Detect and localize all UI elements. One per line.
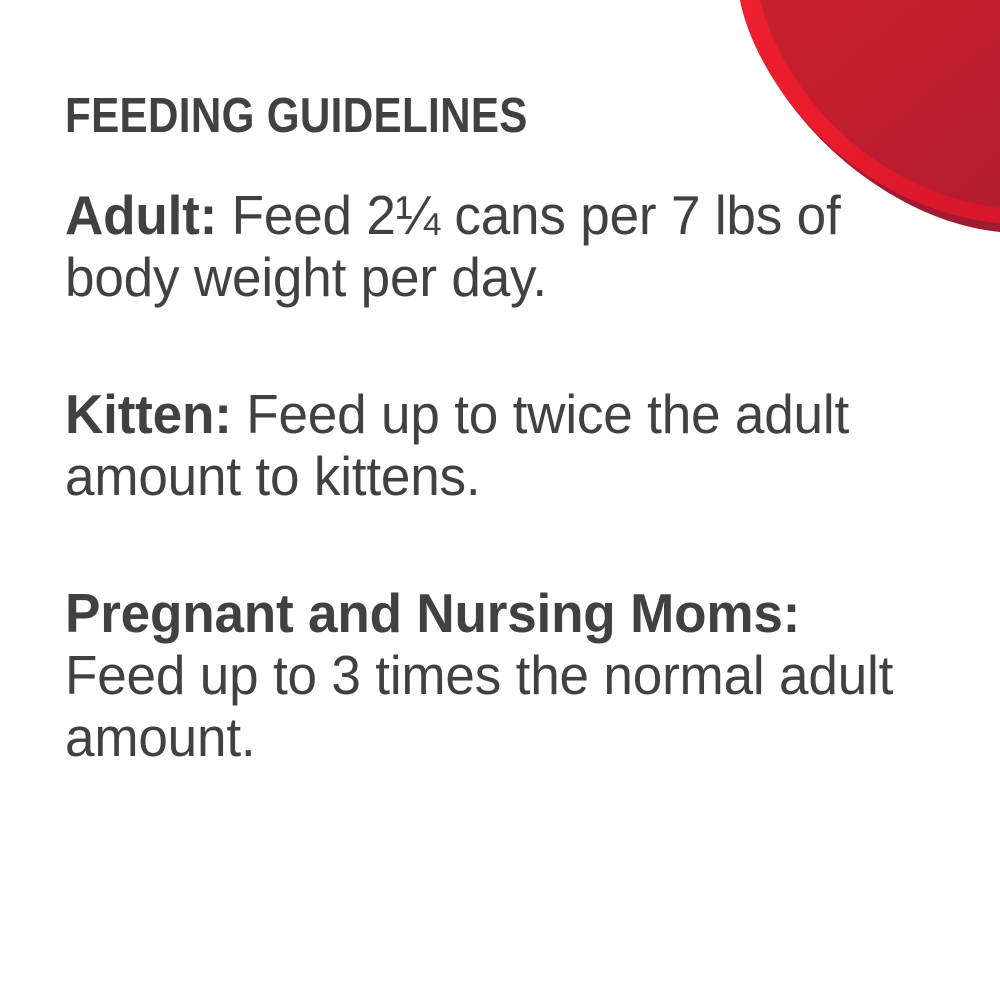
guideline-pregnant-nursing-text: Feed up to 3 times the normal adult amou… bbox=[65, 644, 893, 768]
guideline-adult: Adult: Feed 2¼ cans per 7 lbs of body we… bbox=[65, 185, 914, 308]
page-title: FEEDING GUIDELINES bbox=[65, 92, 822, 141]
guideline-kitten: Kitten: Feed up to twice the adult amoun… bbox=[65, 384, 914, 507]
feeding-guidelines-panel: FEEDING GUIDELINES Adult: Feed 2¼ cans p… bbox=[0, 0, 1000, 1000]
guideline-pregnant-nursing: Pregnant and Nursing Moms: Feed up to 3 … bbox=[65, 583, 914, 768]
guideline-pregnant-nursing-label: Pregnant and Nursing Moms: bbox=[65, 582, 800, 644]
guideline-kitten-label: Kitten: bbox=[65, 383, 232, 445]
content-column: FEEDING GUIDELINES Adult: Feed 2¼ cans p… bbox=[65, 92, 945, 768]
guideline-adult-label: Adult: bbox=[65, 184, 217, 246]
